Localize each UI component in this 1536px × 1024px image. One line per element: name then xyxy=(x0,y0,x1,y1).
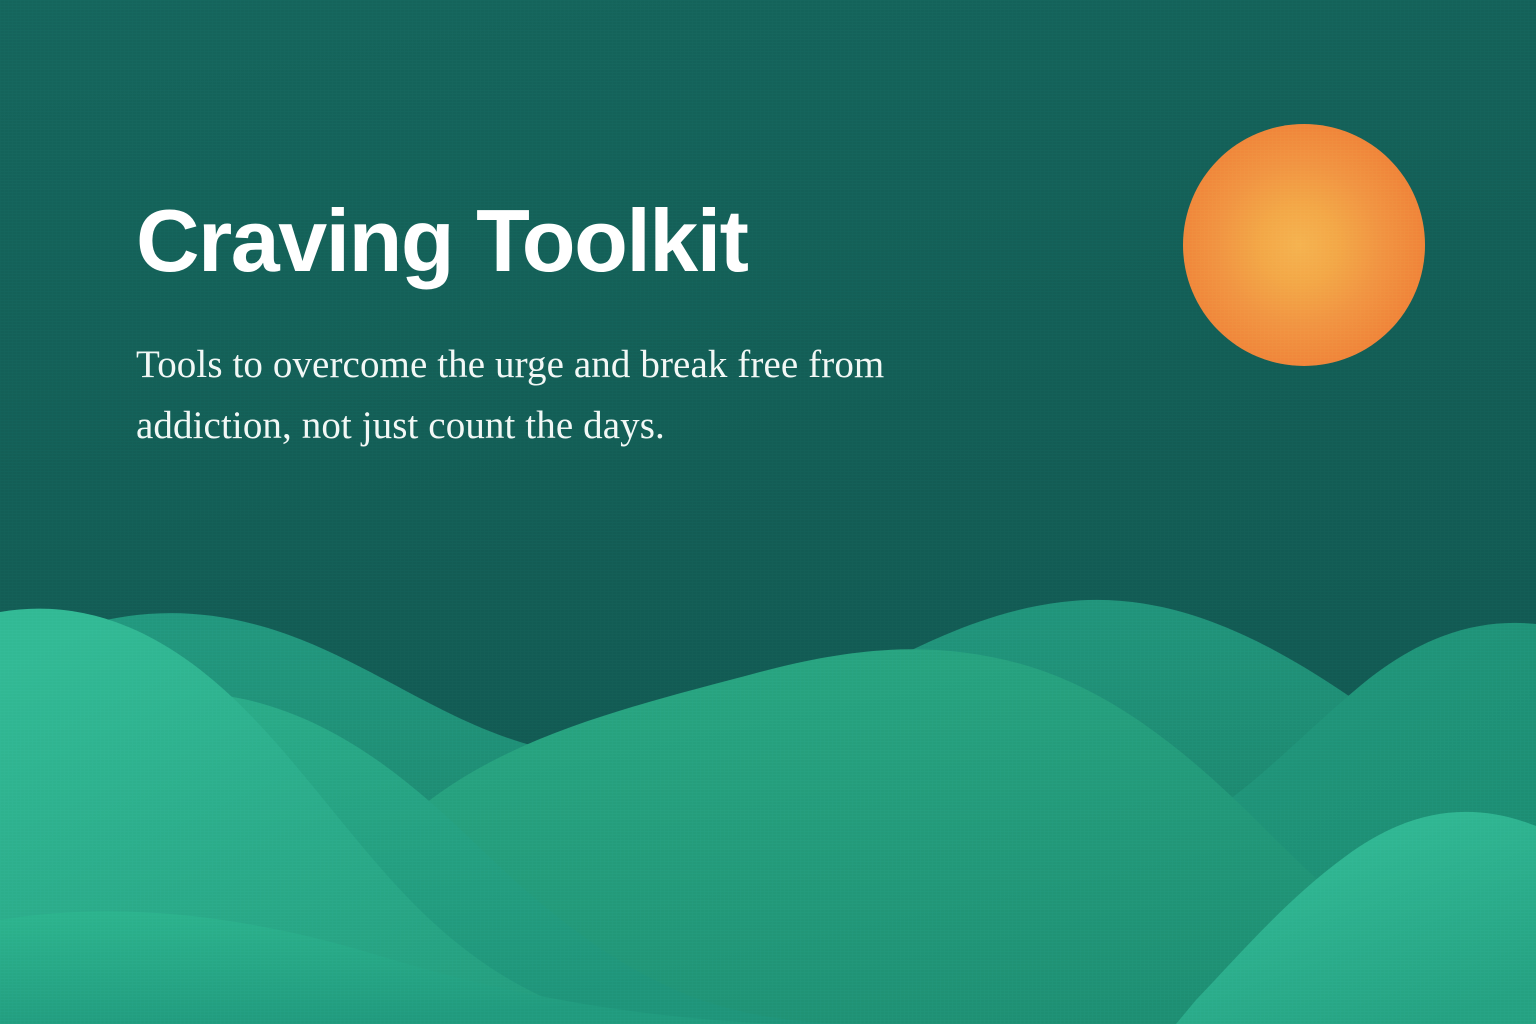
page-title: Craving Toolkit xyxy=(136,196,996,286)
hero-slide: Craving Toolkit Tools to overcome the ur… xyxy=(0,0,1536,1024)
page-subtitle: Tools to overcome the urge and break fre… xyxy=(136,334,936,457)
hill-landscape xyxy=(0,0,1536,1024)
hero-copy: Craving Toolkit Tools to overcome the ur… xyxy=(136,196,996,457)
